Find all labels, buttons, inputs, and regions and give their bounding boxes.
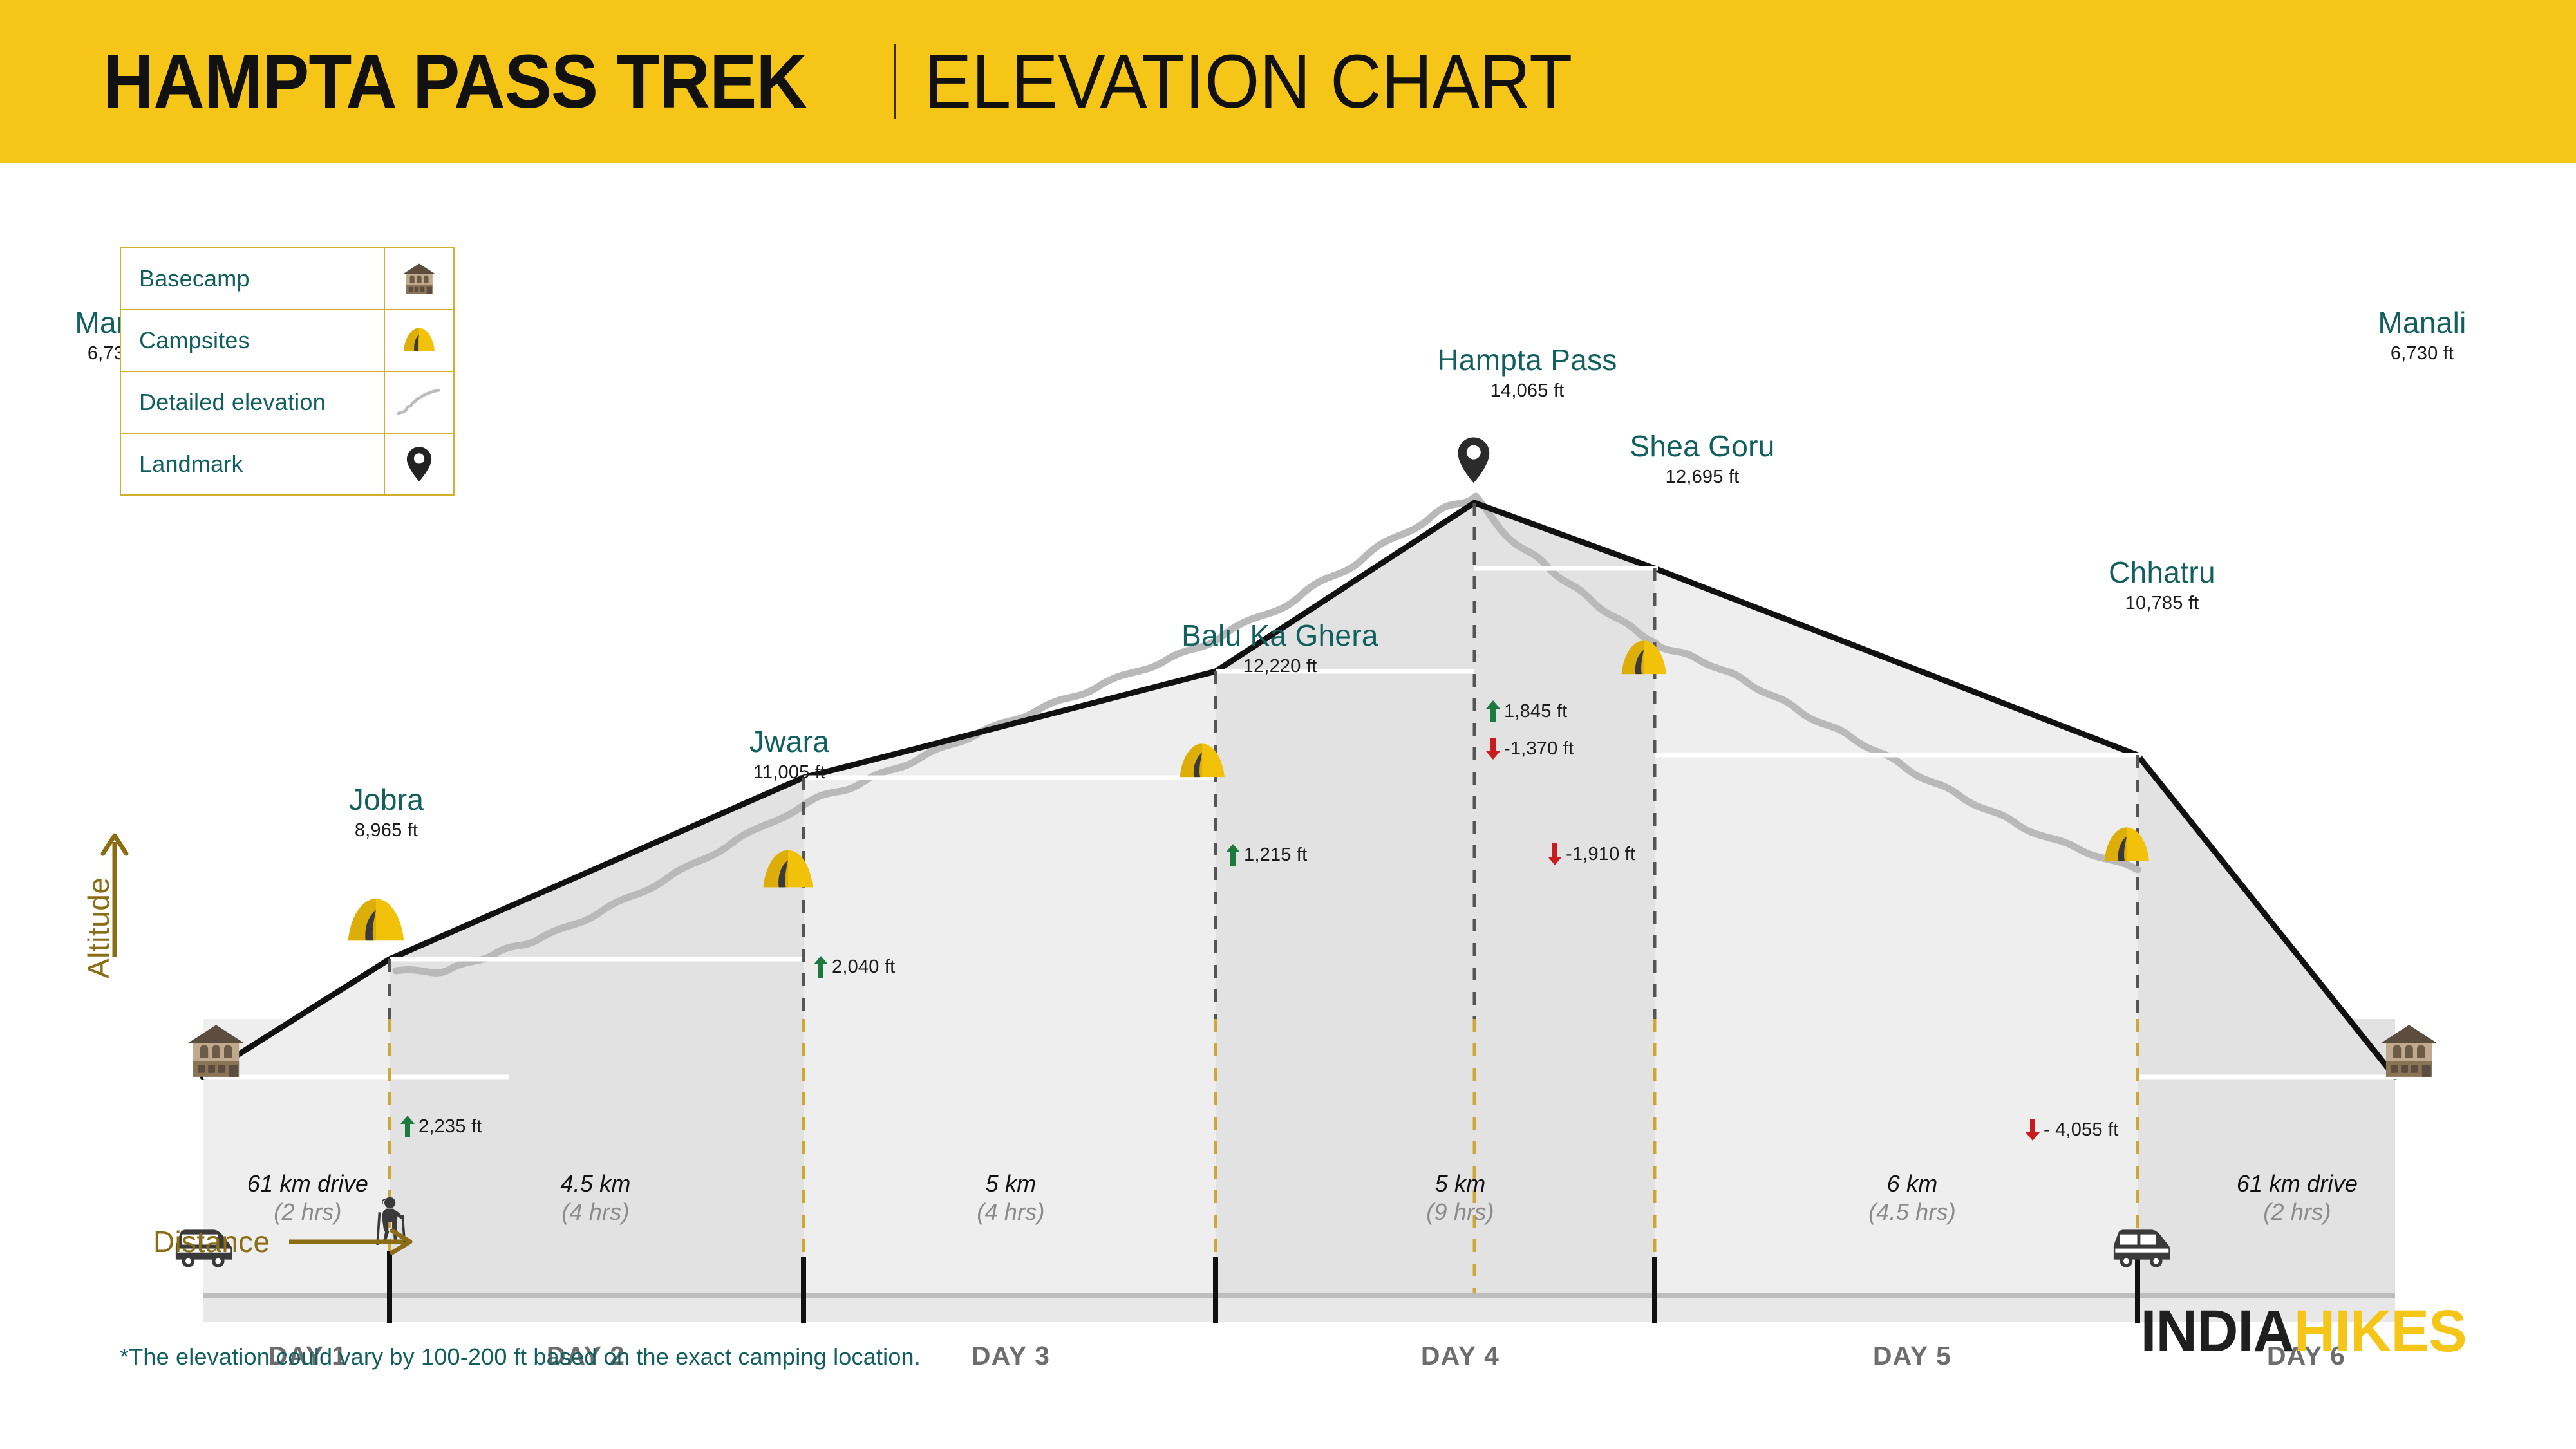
page-title: HAMPTA PASS TREK: [103, 38, 807, 126]
tent-icon: [384, 310, 453, 371]
profile-silhouette: [203, 420, 2395, 1322]
legend-box: Basecamp Campsites: [120, 247, 455, 496]
header-title-wrap: HAMPTA PASS TREK ELEVATION CHART: [103, 38, 1621, 126]
distance-axis: Distance: [153, 1224, 415, 1259]
legend-label-landmark: Landmark: [121, 434, 384, 494]
page-header: HAMPTA PASS TREK ELEVATION CHART: [0, 0, 2576, 163]
legend-item-detailed-elevation: Detailed elevation: [121, 372, 453, 434]
legend-label-basecamp: Basecamp: [121, 248, 384, 309]
legend-item-campsites: Campsites: [121, 310, 453, 372]
altitude-axis: Altitude: [97, 830, 133, 962]
legend-label-campsites: Campsites: [121, 310, 384, 371]
map-pin-icon: [384, 434, 453, 494]
day-label-3: DAY 3: [972, 1341, 1050, 1371]
day-label-4: DAY 4: [1421, 1341, 1500, 1371]
legend-item-basecamp: Basecamp: [121, 248, 453, 310]
arrow-right-icon: [287, 1226, 415, 1257]
page-subtitle: ELEVATION CHART: [925, 38, 1572, 126]
house-icon: [384, 248, 453, 309]
squiggle-line-icon: [384, 372, 453, 433]
logo-hikes: HIKES: [2294, 1298, 2467, 1364]
altitude-axis-label: Altitude: [81, 877, 116, 978]
footnote: *The elevation could vary by 100-200 ft …: [120, 1343, 921, 1370]
title-divider: [894, 44, 896, 119]
map-pin-icon: [1458, 437, 1489, 483]
legend-label-detailed-elevation: Detailed elevation: [121, 372, 384, 433]
distance-axis-label: Distance: [153, 1224, 270, 1259]
day-label-5: DAY 5: [1873, 1341, 1951, 1371]
legend-item-landmark: Landmark: [121, 434, 453, 496]
tent-icon: [348, 899, 404, 940]
indiahikes-logo: INDIAHIKES: [2141, 1298, 2467, 1365]
logo-india: INDIA: [2141, 1298, 2294, 1364]
